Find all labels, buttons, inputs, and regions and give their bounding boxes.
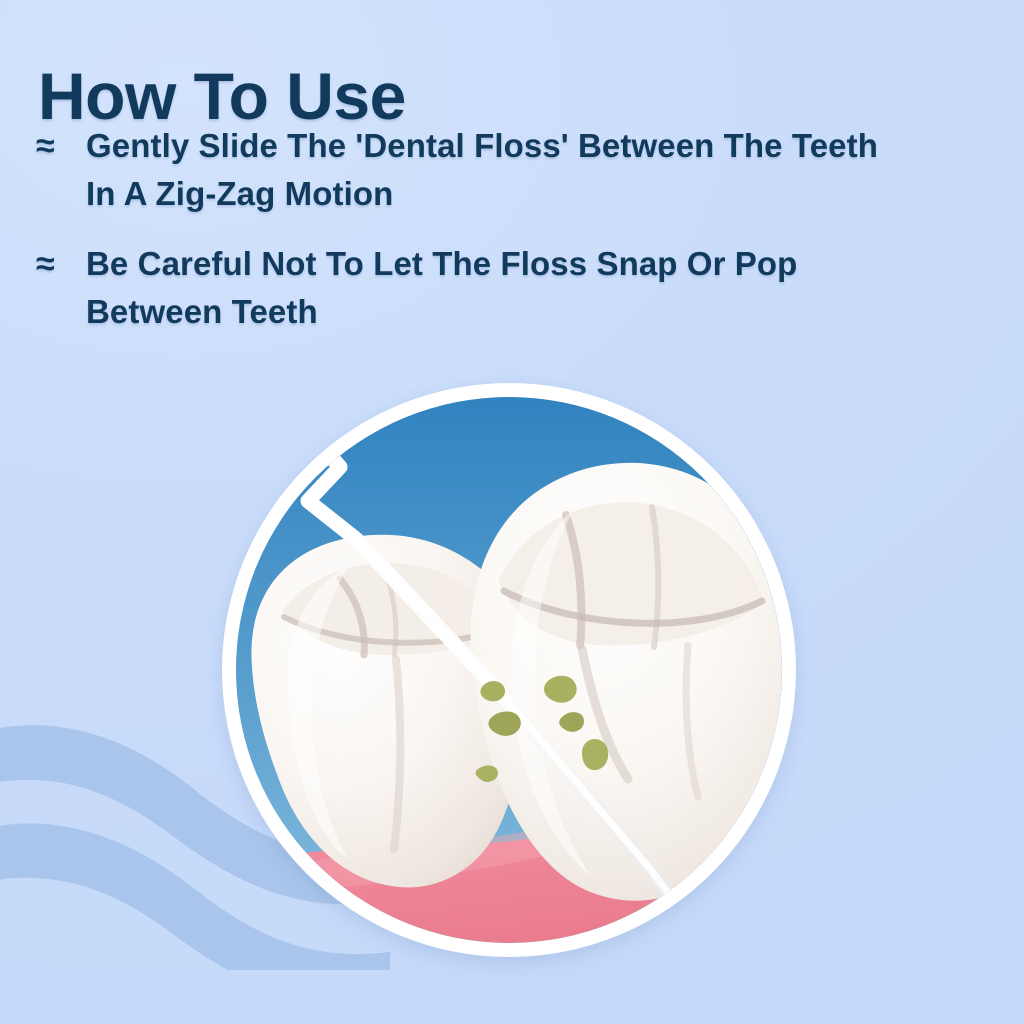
- instruction-list: ≈ Gently Slide The 'Dental Floss' Betwee…: [36, 122, 936, 358]
- list-item: ≈ Gently Slide The 'Dental Floss' Betwee…: [36, 122, 936, 218]
- poster-canvas: How To Use ≈ Gently Slide The 'Dental Fl…: [0, 0, 1024, 1024]
- approx-bullet-icon: ≈: [36, 240, 86, 288]
- instruction-text-slide-floss: Gently Slide The 'Dental Floss' Between …: [86, 122, 916, 218]
- approx-bullet-icon: ≈: [36, 122, 86, 170]
- instruction-text-avoid-snap: Be Careful Not To Let The Floss Snap Or …: [86, 240, 916, 336]
- illustration-circle-frame: [222, 383, 796, 957]
- list-item: ≈ Be Careful Not To Let The Floss Snap O…: [36, 240, 936, 336]
- illustration-image: [236, 397, 782, 943]
